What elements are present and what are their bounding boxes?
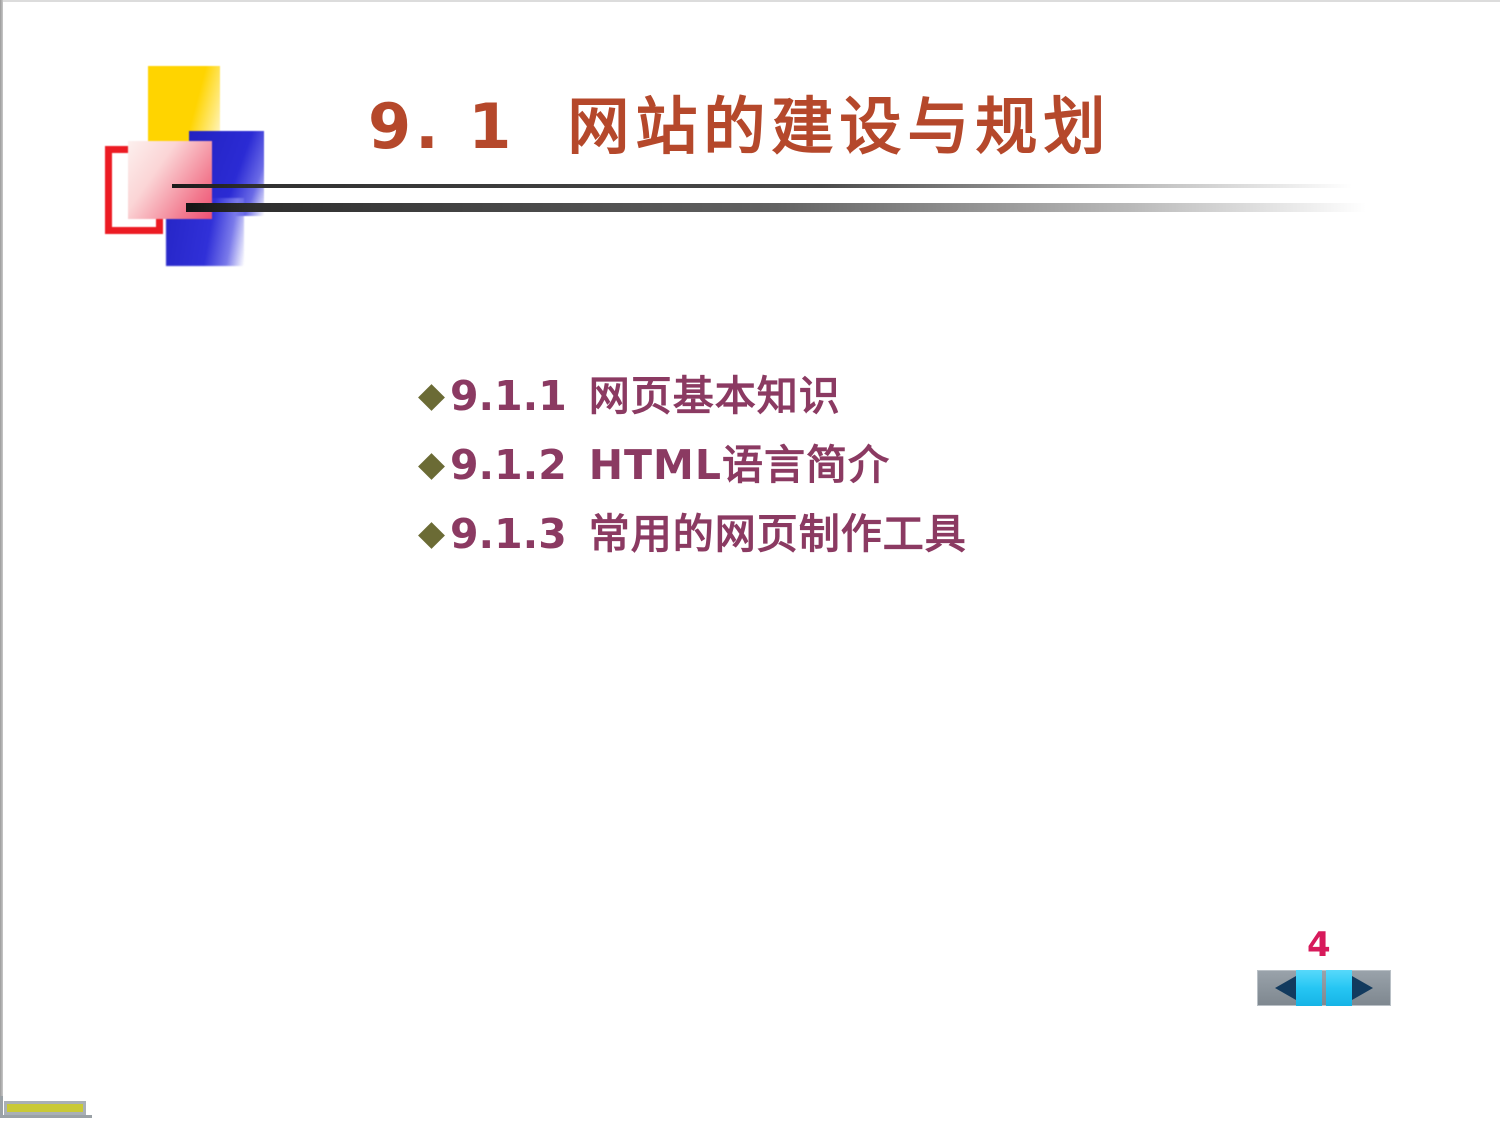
list-item-text: 9.1.2HTML语言简介 bbox=[450, 445, 890, 486]
list-item-label: HTML语言简介 bbox=[589, 441, 890, 489]
diamond-bullet-icon bbox=[418, 522, 445, 549]
next-button-highlight bbox=[1326, 970, 1352, 1006]
list-item: 9.1.2HTML语言简介 bbox=[422, 431, 1322, 500]
previous-slide-button[interactable] bbox=[1257, 970, 1324, 1006]
diamond-bullet-icon bbox=[418, 453, 445, 480]
list-item-number: 9.1.2 bbox=[450, 441, 567, 489]
list-item-number: 9.1.1 bbox=[450, 372, 567, 420]
title-section-number: 9. 1 bbox=[368, 90, 515, 163]
title-heading: 网站的建设与规划 bbox=[567, 90, 1111, 163]
presentation-slide: 9. 1网站的建设与规划 9.1.1网页基本知识 9.1.2HTML语言简介 9… bbox=[0, 0, 1500, 1125]
corner-marker bbox=[4, 1101, 86, 1115]
list-item: 9.1.1网页基本知识 bbox=[422, 362, 1322, 431]
list-item-label: 常用的网页制作工具 bbox=[589, 510, 967, 558]
list-item: 9.1.3常用的网页制作工具 bbox=[422, 500, 1322, 569]
page-number: 4 bbox=[1307, 928, 1331, 962]
slide-top-edge bbox=[0, 0, 1500, 2]
diamond-bullet-icon bbox=[418, 384, 445, 411]
triangle-right-icon bbox=[1352, 976, 1373, 1000]
triangle-left-icon bbox=[1275, 976, 1296, 1000]
prev-button-highlight bbox=[1296, 970, 1322, 1006]
list-item-label: 网页基本知识 bbox=[589, 372, 841, 420]
next-slide-button[interactable] bbox=[1324, 970, 1391, 1006]
slide-title: 9. 1网站的建设与规划 bbox=[368, 96, 1111, 158]
agenda-list: 9.1.1网页基本知识 9.1.2HTML语言简介 9.1.3常用的网页制作工具 bbox=[422, 362, 1322, 569]
list-item-text: 9.1.3常用的网页制作工具 bbox=[450, 514, 967, 555]
slide-navigation-bar[interactable] bbox=[1257, 970, 1391, 1006]
decorative-squares-logo bbox=[103, 58, 283, 248]
title-rule-thin bbox=[172, 184, 1352, 188]
list-item-number: 9.1.3 bbox=[450, 510, 567, 558]
slide-left-edge bbox=[0, 0, 3, 1110]
list-item-text: 9.1.1网页基本知识 bbox=[450, 376, 841, 417]
title-rule-thick bbox=[186, 203, 1366, 212]
